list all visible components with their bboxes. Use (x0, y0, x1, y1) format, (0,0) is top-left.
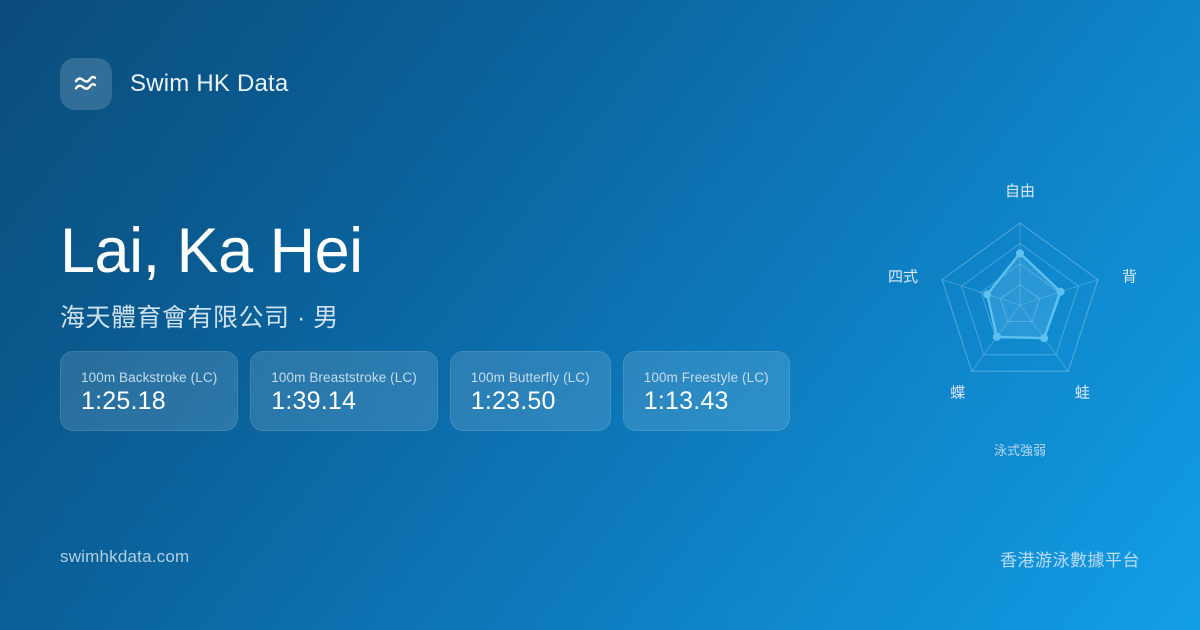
stat-value: 1:23.50 (471, 389, 590, 414)
stat-card-list: 100m Backstroke (LC) 1:25.18 100m Breast… (60, 351, 790, 431)
stat-card: 100m Breaststroke (LC) 1:39.14 (250, 351, 438, 431)
stat-value: 1:13.43 (644, 389, 769, 414)
radar-axis-label: 背 (1122, 269, 1137, 286)
radar-data-point (983, 290, 991, 298)
radar-caption: 泳式強弱 (994, 443, 1046, 458)
athlete-meta: 海天體育會有限公司 · 男 (60, 298, 363, 334)
radar-axis-label: 自由 (1005, 183, 1035, 200)
stat-label: 100m Backstroke (LC) (81, 370, 217, 385)
radar-axis-label: 蝶 (950, 384, 965, 401)
radar-chart: 自由背蛙蝶四式 泳式強弱 (855, 165, 1185, 475)
radar-data-point (1057, 288, 1065, 296)
stat-card: 100m Butterfly (LC) 1:23.50 (450, 351, 611, 431)
footer-tagline: 香港游泳數據平台 (1000, 546, 1140, 571)
page-title: Lai, Ka Hei (60, 218, 363, 284)
stat-value: 1:25.18 (81, 389, 217, 414)
stat-card: 100m Freestyle (LC) 1:13.43 (623, 351, 790, 431)
stat-label: 100m Freestyle (LC) (644, 370, 769, 385)
wave-icon (60, 58, 112, 110)
og-card: Swim HK Data Lai, Ka Hei 海天體育會有限公司 · 男 1… (0, 0, 1200, 630)
brand: Swim HK Data (60, 58, 288, 110)
stat-value: 1:39.14 (271, 389, 417, 414)
athlete-header: Lai, Ka Hei 海天體育會有限公司 · 男 (60, 218, 363, 334)
stat-card: 100m Backstroke (LC) 1:25.18 (60, 351, 238, 431)
brand-name: Swim HK Data (130, 70, 288, 98)
stat-label: 100m Breaststroke (LC) (271, 370, 417, 385)
radar-data-point (1040, 334, 1048, 342)
radar-axis-label: 四式 (888, 269, 918, 286)
radar-data-point (1016, 249, 1024, 257)
radar-data-point (993, 333, 1001, 341)
footer-site-url: swimhkdata.com (60, 547, 189, 567)
radar-area-series (987, 253, 1060, 338)
stat-label: 100m Butterfly (LC) (471, 370, 590, 385)
radar-axis-label: 蛙 (1075, 384, 1090, 401)
